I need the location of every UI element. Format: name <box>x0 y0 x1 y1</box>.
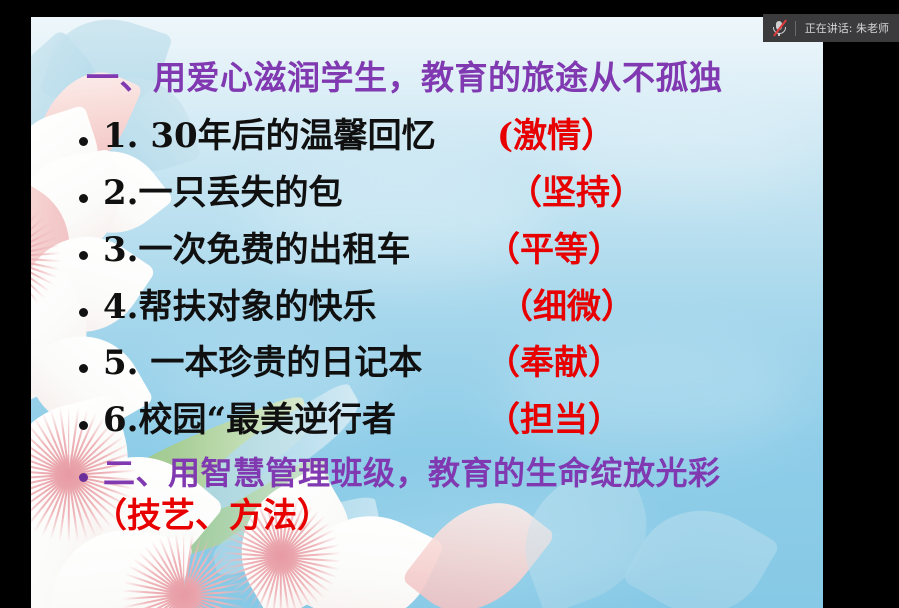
list-item-text: 2.一只丢失的包 <box>103 176 343 210</box>
list-item-tag: （平等） <box>486 233 622 267</box>
list-item-text: 6.校园“最美逆行者 <box>103 403 396 437</box>
list-item-tag: （细微） <box>499 290 635 324</box>
list-bullet <box>79 137 88 146</box>
slide-text-content: 一、用爱心滋润学生，教育的旅途从不孤独 1. 30年后的温馨回忆 (激情） 2.… <box>31 17 823 608</box>
list-item-text: 1. 30年后的温馨回忆 <box>103 119 436 153</box>
list-bullet <box>79 421 88 430</box>
list-bullet <box>79 194 88 203</box>
heading-section-one: 一、用爱心滋润学生，教育的旅途从不孤独 <box>86 61 723 94</box>
list-item-tag: （奉献） <box>486 346 622 380</box>
list-item-tag: （担当） <box>486 403 622 437</box>
list-bullet <box>79 364 88 373</box>
screen-share-view: 一、用爱心滋润学生，教育的旅途从不孤独 1. 30年后的温馨回忆 (激情） 2.… <box>0 0 899 608</box>
heading-section-two-subtitle: （技艺、方法） <box>93 499 331 533</box>
list-item-text: 3.一次免费的出租车 <box>103 233 411 267</box>
microphone-muted-icon <box>771 19 787 37</box>
list-bullet <box>79 473 88 482</box>
active-speaker-badge: 正在讲话: 朱老师 <box>763 14 899 42</box>
list-item-tag: （坚持） <box>508 176 644 210</box>
list-bullet <box>79 251 88 260</box>
list-item-tag: (激情） <box>497 119 615 153</box>
presentation-slide: 一、用爱心滋润学生，教育的旅途从不孤独 1. 30年后的温馨回忆 (激情） 2.… <box>31 17 823 608</box>
list-bullet <box>79 308 88 317</box>
list-item-text: 5. 一本珍贵的日记本 <box>103 346 422 380</box>
badge-divider <box>795 21 796 36</box>
list-item-text: 4.帮扶对象的快乐 <box>103 290 377 324</box>
active-speaker-label: 正在讲话: 朱老师 <box>805 20 889 36</box>
heading-section-two: 二、用智慧管理班级，教育的生命绽放光彩 <box>103 457 721 489</box>
